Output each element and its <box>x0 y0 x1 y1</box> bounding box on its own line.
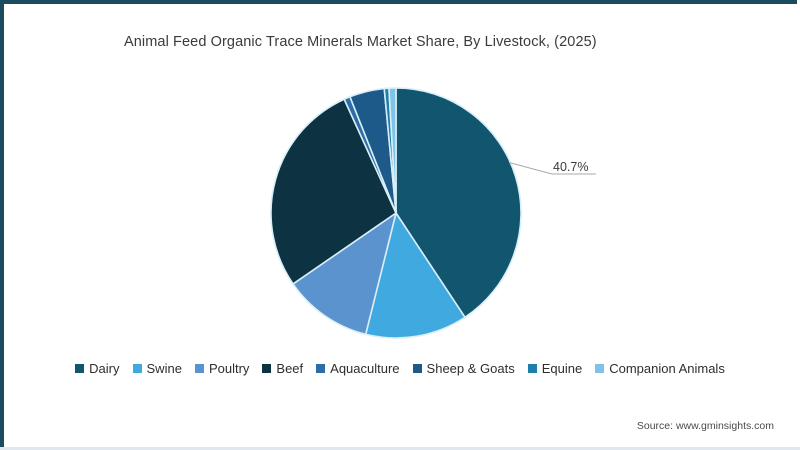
pie-slice-group <box>271 88 521 338</box>
legend-swatch-icon <box>413 364 422 373</box>
source-note: Source: www.gminsights.com <box>637 420 774 432</box>
chart-legend: DairySwinePoultryBeefAquacultureSheep & … <box>0 362 800 375</box>
legend-swatch-icon <box>133 364 142 373</box>
legend-swatch-icon <box>316 364 325 373</box>
legend-item[interactable]: Swine <box>133 362 182 375</box>
legend-swatch-icon <box>595 364 604 373</box>
legend-item[interactable]: Companion Animals <box>595 362 725 375</box>
legend-item-label: Poultry <box>209 362 249 375</box>
legend-item-label: Aquaculture <box>330 362 399 375</box>
legend-item-label: Companion Animals <box>609 362 725 375</box>
legend-item[interactable]: Sheep & Goats <box>413 362 515 375</box>
legend-item[interactable]: Poultry <box>195 362 249 375</box>
legend-item-label: Equine <box>542 362 582 375</box>
legend-item-label: Swine <box>147 362 182 375</box>
legend-swatch-icon <box>195 364 204 373</box>
chart-figure: Animal Feed Organic Trace Minerals Marke… <box>0 0 800 450</box>
legend-swatch-icon <box>75 364 84 373</box>
pie-chart-svg <box>0 0 800 355</box>
data-label-dairy: 40.7% <box>553 160 588 174</box>
legend-item[interactable]: Equine <box>528 362 582 375</box>
legend-swatch-icon <box>528 364 537 373</box>
pie-chart-area <box>0 0 800 355</box>
legend-swatch-icon <box>262 364 271 373</box>
legend-item[interactable]: Beef <box>262 362 303 375</box>
legend-item-label: Beef <box>276 362 303 375</box>
legend-item-label: Sheep & Goats <box>427 362 515 375</box>
legend-item-label: Dairy <box>89 362 119 375</box>
legend-item[interactable]: Aquaculture <box>316 362 399 375</box>
legend-item[interactable]: Dairy <box>75 362 119 375</box>
